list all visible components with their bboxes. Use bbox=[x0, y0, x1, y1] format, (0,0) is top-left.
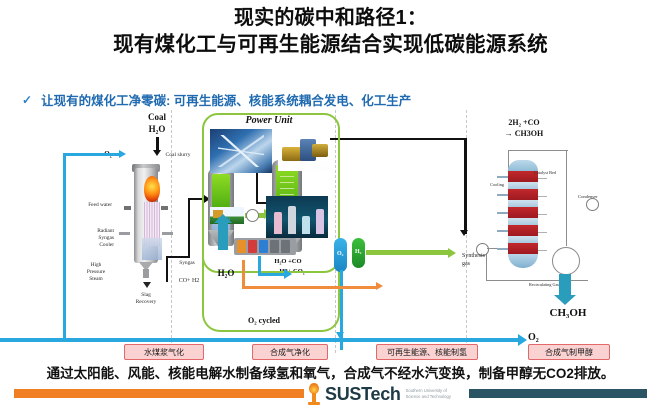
process-diagram: Coal H₂O Coal slurry O₂ Feed water Radia… bbox=[0, 110, 661, 360]
gasifier-outlet-neck bbox=[143, 269, 149, 278]
subtitle-text: 让现有的煤化工净零碳: 可再生能源、核能系统耦合发电、化工生产 bbox=[41, 90, 411, 109]
hydrogen-tank-label: H₂ bbox=[355, 249, 361, 255]
electrolyzer-cell bbox=[259, 240, 268, 253]
coal-feed-line bbox=[156, 137, 159, 151]
column-gap bbox=[508, 182, 538, 189]
logo-wordmark: SUSTech bbox=[325, 384, 401, 405]
check-icon: ✓ bbox=[22, 94, 32, 106]
methanol-reaction-line-2: → CH3OH bbox=[492, 129, 556, 139]
column-gap bbox=[508, 218, 538, 225]
turbine-part-c bbox=[312, 144, 328, 157]
synthesis-gas-label: Synthesis gas bbox=[462, 253, 496, 268]
o2-join-arrow-icon bbox=[336, 332, 344, 339]
high-pressure-steam-label: High Pressure Steam bbox=[76, 262, 116, 282]
gasifier-left-nozzle bbox=[124, 206, 131, 210]
hydrogen-to-mixer-line bbox=[366, 250, 450, 255]
gasifier-left-stub bbox=[119, 232, 130, 235]
footer-bar-right bbox=[469, 389, 647, 398]
logo-subtitle: Southern University of Science and Techn… bbox=[406, 388, 458, 400]
column-gap bbox=[508, 200, 538, 207]
electrode-rod bbox=[316, 209, 324, 234]
column-side-tap bbox=[538, 250, 547, 251]
column-sump bbox=[508, 254, 538, 268]
title-line-1: 现实的碳中和路径1： bbox=[0, 6, 661, 32]
catalyst-bed bbox=[508, 225, 538, 236]
electrolyzer-cell bbox=[281, 240, 290, 253]
separator-drum bbox=[552, 247, 580, 275]
stage-label-methanol[interactable]: 合成气制甲醇 bbox=[528, 344, 610, 360]
product-separator bbox=[552, 247, 578, 277]
orange-return-line bbox=[242, 286, 378, 289]
recirculating-gas-line bbox=[510, 280, 588, 281]
generator-symbol bbox=[246, 209, 259, 222]
stage-label-cleanup[interactable]: 合成气净化 bbox=[252, 344, 328, 360]
subtitle-row: ✓ 让现有的煤化工净零碳: 可再生能源、核能系统耦合发电、化工生产 bbox=[22, 90, 411, 109]
column-top-line bbox=[508, 150, 568, 151]
methanol-reaction-line-1: 2H₂ +CO bbox=[492, 118, 556, 128]
title-line-2: 现有煤化工与可再生能源结合实现低碳能源系统 bbox=[0, 32, 661, 58]
o2-feed-arrow-icon bbox=[119, 150, 126, 158]
gasifier-body bbox=[134, 168, 158, 263]
syngas-mixer-arrow-icon bbox=[460, 230, 468, 236]
o2-feed-line-top bbox=[63, 153, 121, 156]
column-quench-inlet bbox=[497, 248, 508, 250]
footer-bar-left bbox=[14, 389, 304, 398]
methanol-product-label: CH₃OH bbox=[528, 307, 608, 321]
column-quench-inlet bbox=[497, 176, 508, 178]
oxygen-tank: O₂ bbox=[334, 238, 347, 272]
column-side-tap bbox=[538, 232, 547, 233]
electrolyzer-cell bbox=[248, 240, 257, 253]
gasifier-right-nozzle bbox=[161, 206, 168, 210]
cyan-cross-line bbox=[258, 273, 286, 276]
column-gap bbox=[508, 236, 538, 243]
cooling-caption: Cooling bbox=[478, 182, 504, 187]
stage-label-row: 水煤浆气化 合成气净化 可再生能源、核能制氢 合成气制甲醇 bbox=[0, 344, 661, 360]
recycle-compressor-symbol bbox=[586, 198, 599, 211]
gasifier-vessel bbox=[128, 162, 164, 277]
coal-feed-label-2: H₂O bbox=[132, 124, 182, 135]
orange-arrow-icon bbox=[376, 282, 383, 290]
oxygen-tank-label: O₂ bbox=[337, 251, 343, 257]
electrolyzer-cell bbox=[237, 240, 246, 253]
gasifier-cooling-zone bbox=[142, 238, 162, 260]
gasifier-flame bbox=[144, 176, 160, 202]
recycle-return-riser bbox=[486, 253, 487, 281]
page-title: 现实的碳中和路径1： 现有煤化工与可再生能源结合实现低碳能源系统 bbox=[0, 6, 661, 58]
methanol-synthesis-column bbox=[508, 160, 538, 268]
logo-wordmark-lower: ech bbox=[370, 384, 400, 404]
power-unit-title: Power Unit bbox=[202, 115, 336, 126]
o2-recycle-riser bbox=[63, 153, 66, 339]
catalyst-bed bbox=[508, 243, 538, 254]
catalyst-bed bbox=[508, 207, 538, 218]
torch-icon bbox=[306, 383, 322, 405]
column-side-tap bbox=[538, 214, 547, 215]
electrolyzer-cell-stack bbox=[234, 238, 296, 255]
feed-water-label: Feed water bbox=[64, 202, 112, 209]
slag-recovery-label: Slag Recovery bbox=[126, 292, 166, 306]
orange-riser bbox=[242, 260, 245, 288]
syngas-line-horizontal bbox=[166, 256, 190, 258]
stage-label-gasification[interactable]: 水煤浆气化 bbox=[124, 344, 204, 360]
o2-output-label: O₂ bbox=[528, 332, 552, 345]
electrode-rod bbox=[274, 212, 282, 234]
methanol-product-arrow-icon bbox=[559, 274, 571, 296]
water-inlet-label: H₂O bbox=[206, 268, 246, 279]
column-side-tap bbox=[538, 178, 547, 179]
sustech-logo: SUSTech Southern University of Science a… bbox=[306, 382, 481, 406]
o2-cycled-bus bbox=[0, 338, 520, 342]
hydrogen-mixer-arrow-icon bbox=[448, 248, 456, 258]
coal-feed-label-1: Coal bbox=[132, 112, 182, 123]
cyan-arrow-icon bbox=[284, 269, 292, 279]
syngas-line-riser bbox=[188, 198, 190, 258]
electrode-rod bbox=[288, 206, 296, 234]
torch-base bbox=[308, 402, 320, 405]
column-overhead-downcomer bbox=[566, 150, 567, 246]
recycle-return-line bbox=[486, 280, 512, 281]
slag-arrow-icon bbox=[143, 282, 151, 288]
syngas-down-to-mixer bbox=[464, 138, 467, 234]
o2-cycled-label: O₂ cycled bbox=[224, 316, 304, 326]
column-quench-inlet bbox=[497, 194, 508, 196]
electrolysis-stack-image bbox=[266, 196, 328, 238]
water-feed-arrow-icon bbox=[218, 222, 228, 250]
hydrogen-tank: H₂ bbox=[352, 238, 365, 268]
radiant-syngas-cooler-label: Radiant Syngas Cooler bbox=[74, 228, 114, 248]
gas-turbine-image bbox=[278, 131, 330, 171]
stage-label-hydrogen[interactable]: 可再生能源、核能制氢 bbox=[376, 344, 478, 360]
electrolyzer-cell bbox=[270, 240, 279, 253]
catalyst-bed-caption: Catalyst Bed bbox=[534, 170, 560, 175]
syngas-line-vertical bbox=[166, 258, 168, 282]
syngas-label: Syngas bbox=[168, 260, 206, 267]
conclusion-text: 通过太阳能、风能、核能电解水制备绿氢和氧气，合成气不经水汽变换，制备甲醇无CO2… bbox=[0, 362, 661, 382]
water-arrow-label: H2O bbox=[208, 217, 240, 225]
column-quench-inlet bbox=[497, 230, 508, 232]
coal-slurry-label: Coal slurry bbox=[158, 152, 198, 159]
wind-farm-image bbox=[210, 129, 272, 173]
column-side-tap bbox=[538, 196, 547, 197]
column-quench-inlet bbox=[497, 212, 508, 214]
catalyst-bed bbox=[508, 189, 538, 200]
electrode-rod bbox=[302, 216, 310, 234]
gasifier-right-stub bbox=[162, 232, 173, 235]
logo-wordmark-upper: SUST bbox=[325, 384, 370, 404]
slide-root: 现实的碳中和路径1： 现有煤化工与可再生能源结合实现低碳能源系统 ✓ 让现有的煤… bbox=[0, 0, 661, 413]
